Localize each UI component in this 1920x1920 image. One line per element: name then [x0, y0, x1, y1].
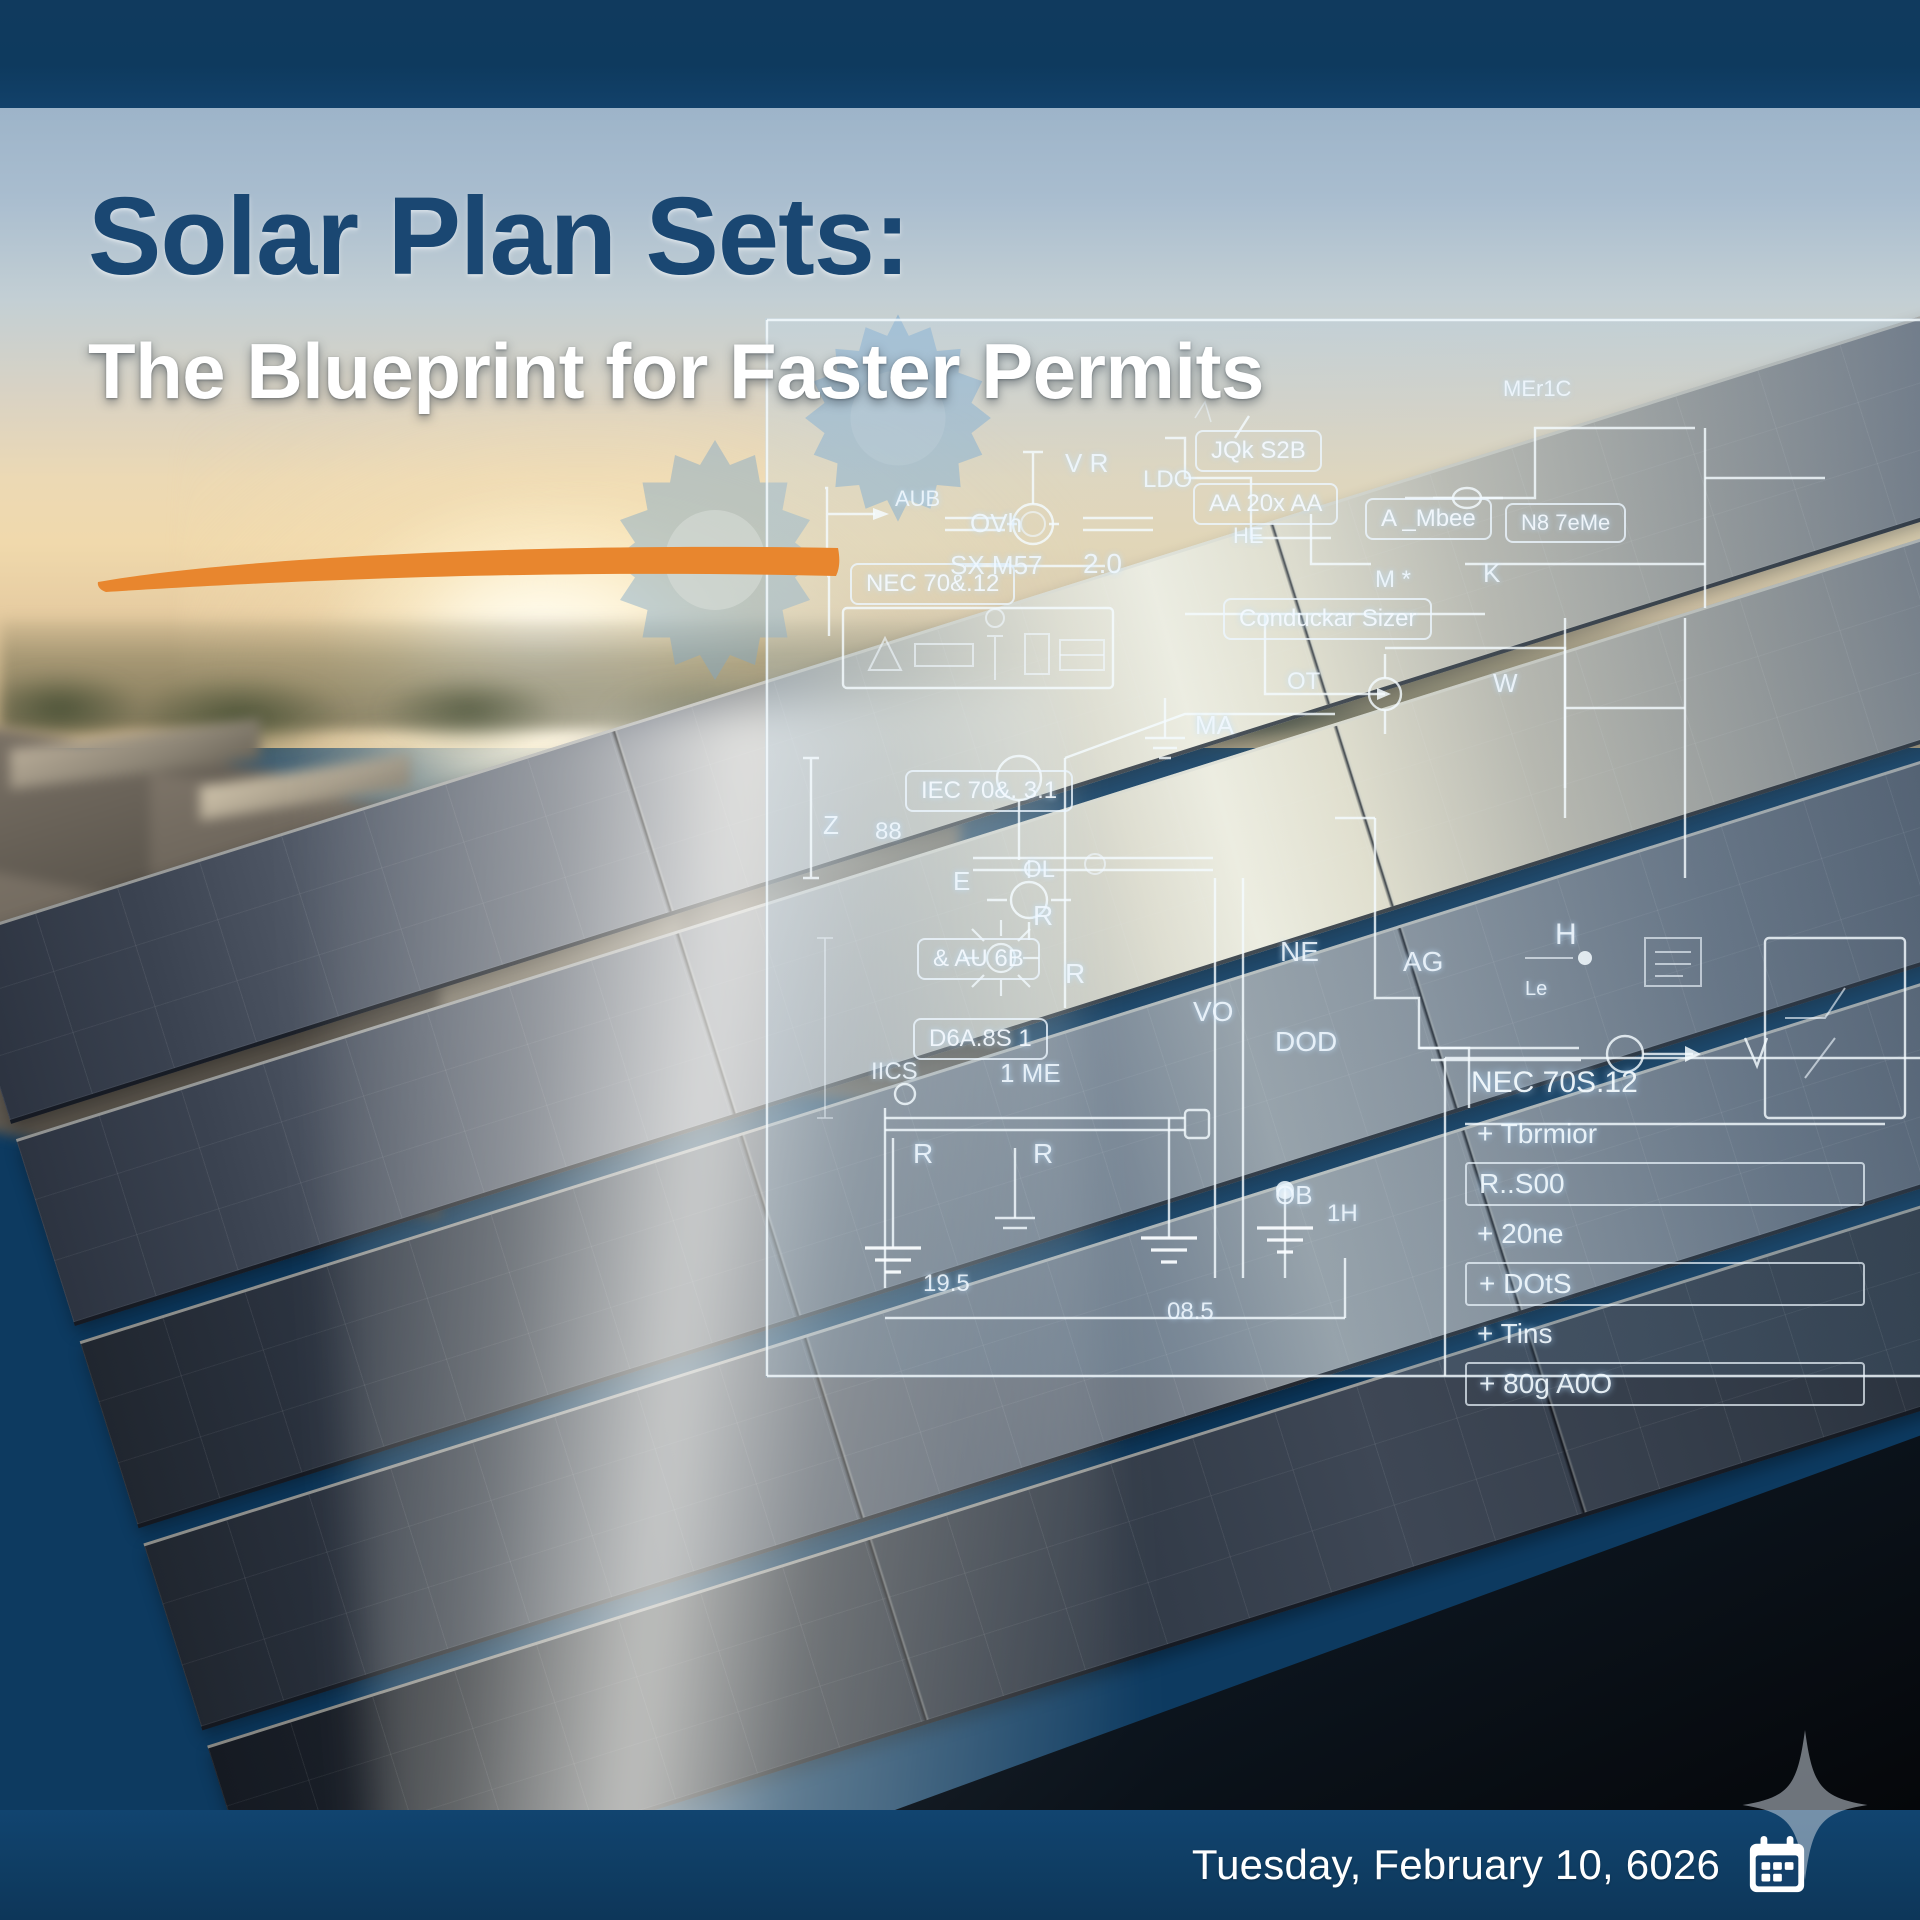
calendar-icon [1746, 1834, 1808, 1896]
date-label: Tuesday, February 10, 6026 [1192, 1841, 1720, 1889]
footer-date-block: Tuesday, February 10, 6026 [1192, 1810, 1808, 1920]
poster-canvas: .ln { fill:none; stroke:rgba(244,251,255… [0, 0, 1920, 1920]
top-brand-bar [0, 0, 1920, 108]
headline-block: Solar Plan Sets: The Blueprint for Faste… [88, 182, 1508, 410]
page-subtitle: The Blueprint for Faster Permits [88, 332, 1508, 410]
page-title: Solar Plan Sets: [88, 182, 1508, 292]
